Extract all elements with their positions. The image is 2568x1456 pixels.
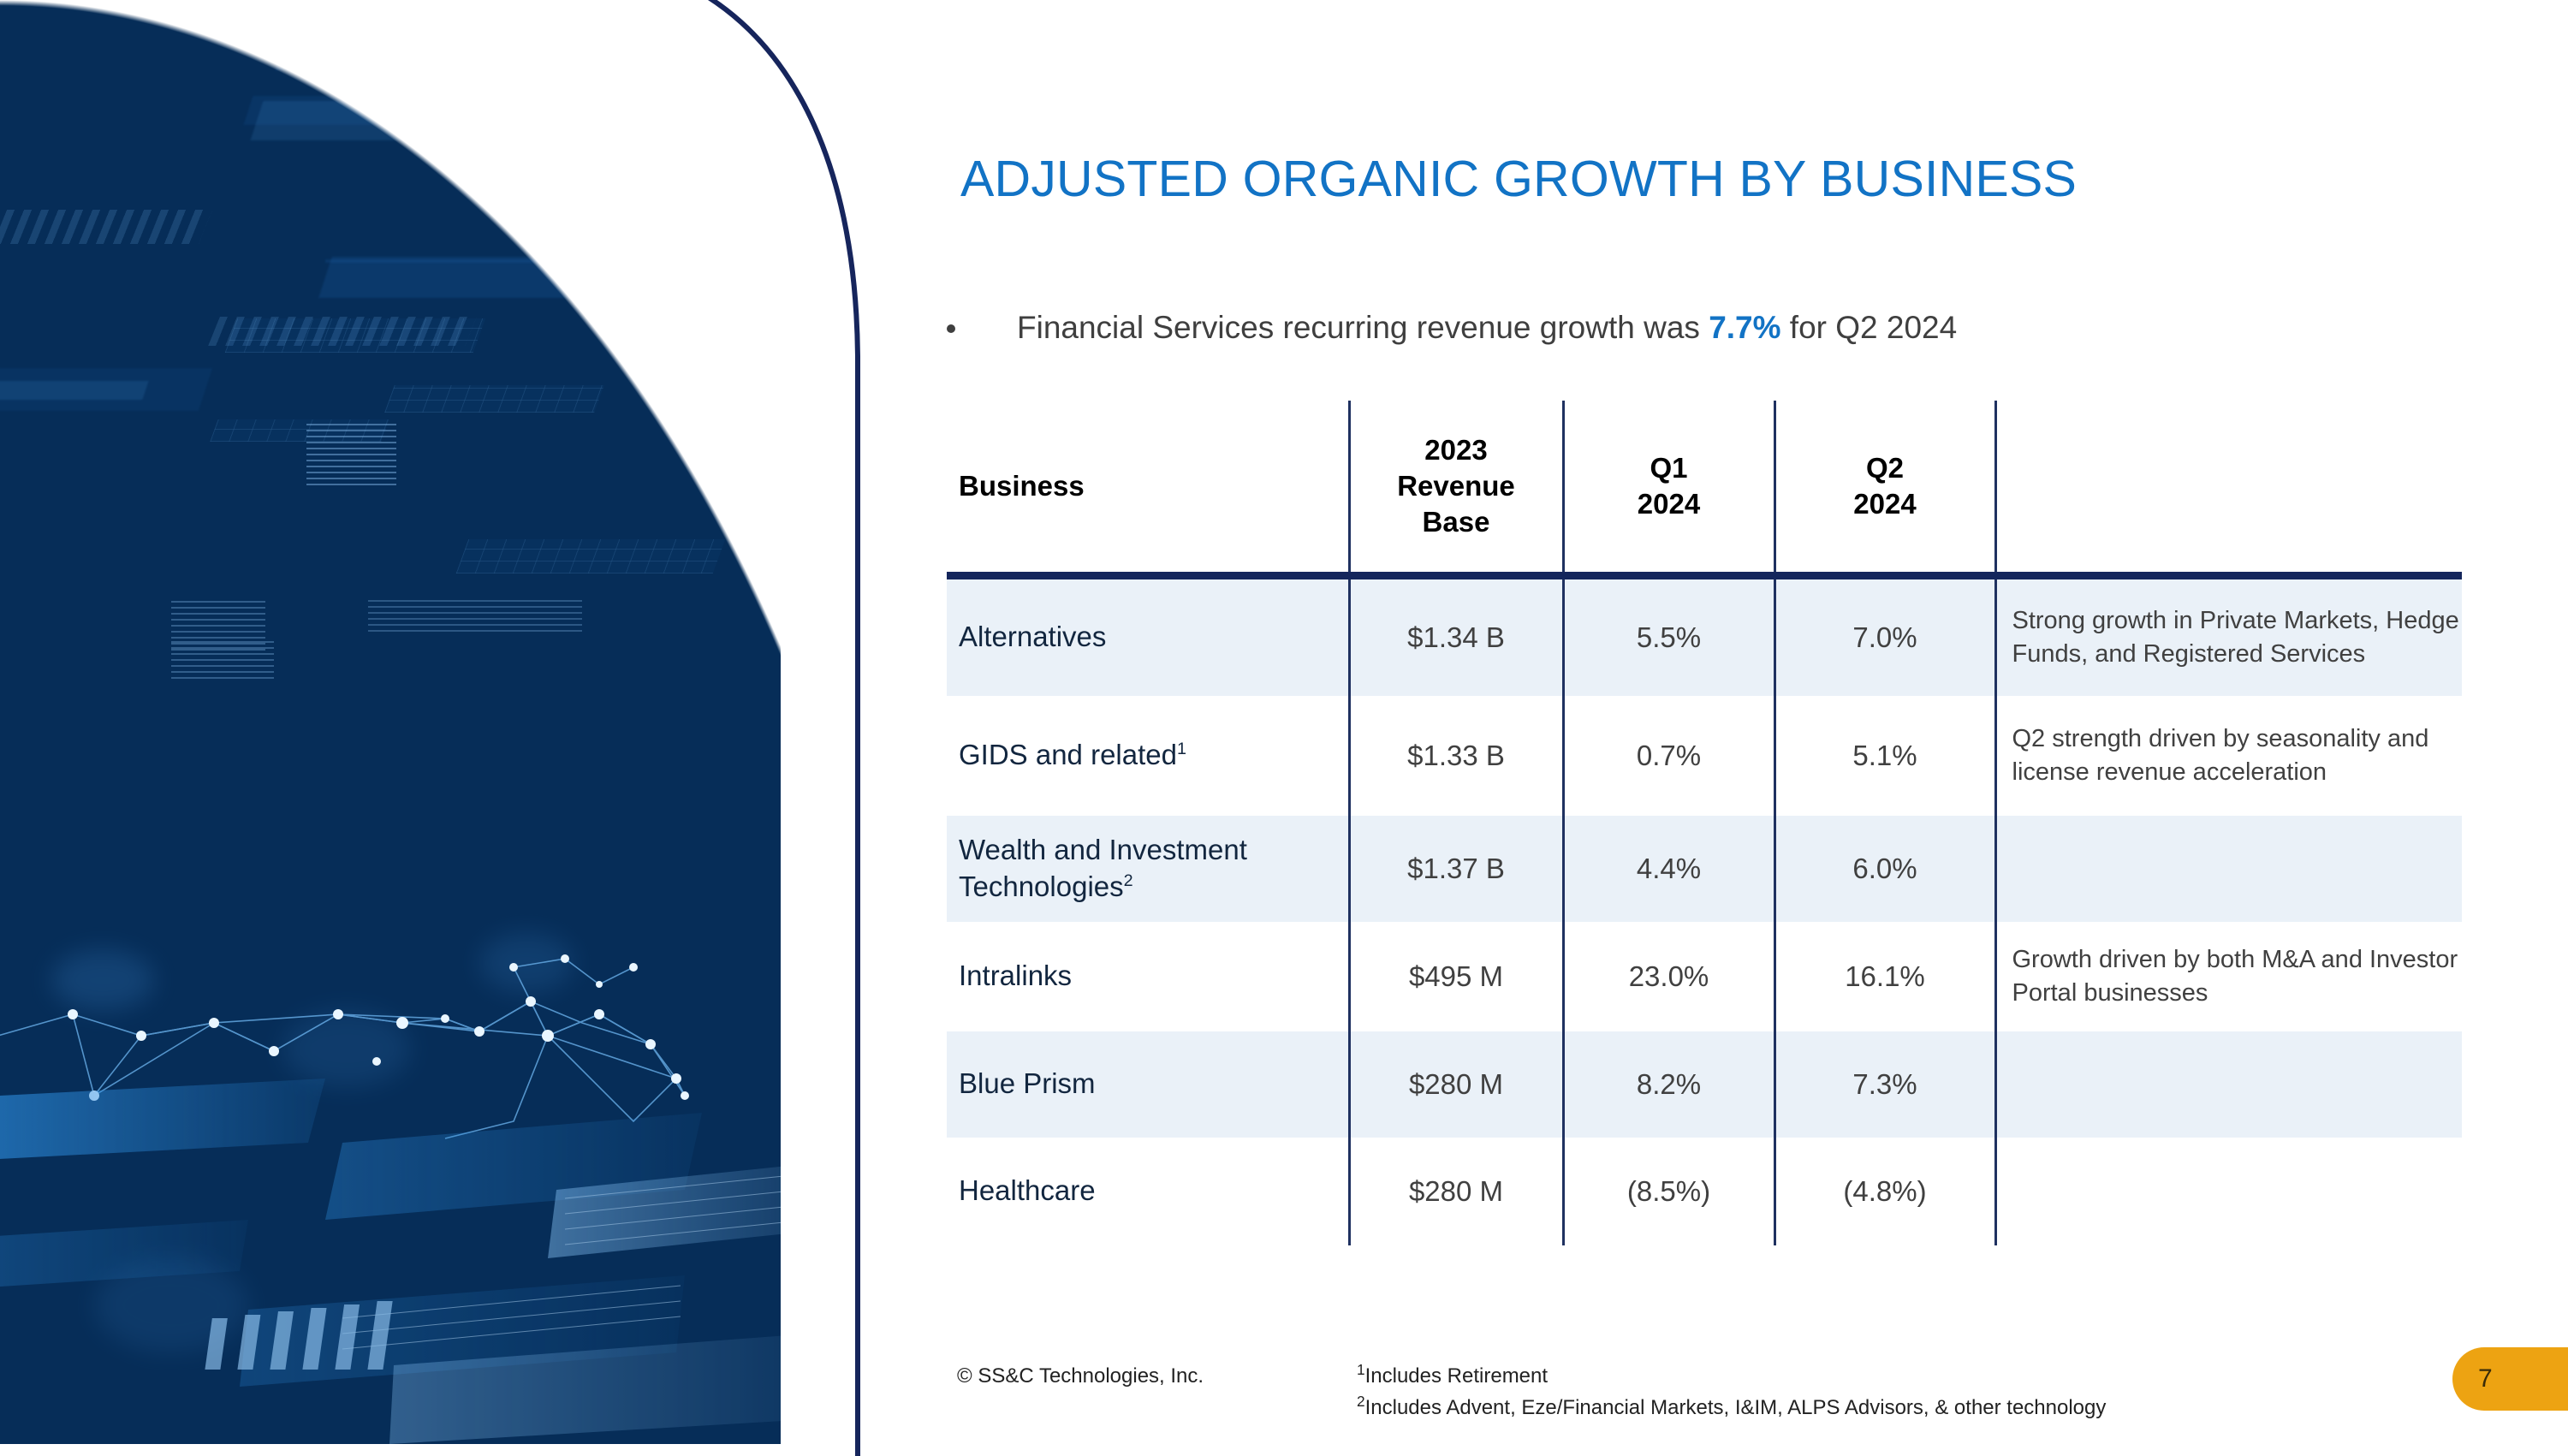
growth-table: Business 2023 Revenue Base Q1 2024 Q2 20…	[947, 401, 2462, 1245]
cell-note	[1995, 816, 2462, 922]
deco-band	[0, 381, 149, 400]
deco-dashboard-motif	[0, 1061, 781, 1444]
cell-business: Alternatives	[947, 576, 1349, 696]
col-header-revenue-base: 2023 Revenue Base	[1349, 401, 1563, 576]
cell-revenue-base: $495 M	[1349, 922, 1563, 1031]
table-row: Wealth and Investment Technologies2$1.37…	[947, 816, 2462, 922]
cell-q1-2024: 5.5%	[1563, 576, 1774, 696]
table-row: Healthcare$280 M(8.5%)(4.8%)	[947, 1138, 2462, 1245]
page-number: 7	[2478, 1364, 2493, 1394]
cell-q1-2024: 23.0%	[1563, 922, 1774, 1031]
bullet-highlight-value: 7.7%	[1709, 310, 1780, 345]
cell-business: Blue Prism	[947, 1031, 1349, 1138]
col-header-notes	[1995, 401, 2462, 576]
cell-q2-2024: (4.8%)	[1774, 1138, 1995, 1245]
copyright-text: © SS&C Technologies, Inc.	[957, 1364, 1204, 1388]
deco-microtext	[171, 638, 274, 679]
footnote-2-marker: 2	[1357, 1393, 1365, 1410]
deco-grid-panel	[225, 318, 486, 353]
deco-band	[276, 26, 650, 70]
cell-revenue-base: $280 M	[1349, 1031, 1563, 1138]
bullet-text: Financial Services recurring revenue gro…	[1017, 308, 1957, 348]
cell-business: GIDS and related1	[947, 696, 1349, 816]
cell-revenue-base: $280 M	[1349, 1138, 1563, 1245]
decorative-image-panel	[0, 0, 781, 1444]
table-row: Intralinks$495 M23.0%16.1%Growth driven …	[947, 922, 2462, 1031]
bullet-row: Financial Services recurring revenue gro…	[947, 308, 2453, 348]
bullet-text-prefix: Financial Services recurring revenue gro…	[1017, 310, 1709, 345]
table-row: Alternatives$1.34 B5.5%7.0%Strong growth…	[947, 576, 2462, 696]
footnote-1-text: Includes Retirement	[1365, 1364, 1548, 1388]
table-row: GIDS and related1$1.33 B0.7%5.1%Q2 stren…	[947, 696, 2462, 816]
bullet-text-suffix: for Q2 2024	[1781, 310, 1958, 345]
cell-revenue-base: $1.34 B	[1349, 576, 1563, 696]
cell-revenue-base: $1.37 B	[1349, 816, 1563, 922]
cell-q2-2024: 7.3%	[1774, 1031, 1995, 1138]
table-body: Alternatives$1.34 B5.5%7.0%Strong growth…	[947, 576, 2462, 1245]
footnote-1: 1Includes Retirement	[1357, 1359, 2106, 1391]
cell-q1-2024: 4.4%	[1563, 816, 1774, 922]
cell-note: Q2 strength driven by seasonality and li…	[1995, 696, 2462, 816]
footnote-2: 2Includes Advent, Eze/Financial Markets,…	[1357, 1391, 2106, 1423]
footnote-2-text: Includes Advent, Eze/Financial Markets, …	[1365, 1396, 2107, 1419]
cell-q2-2024: 7.0%	[1774, 576, 1995, 696]
table-header: Business 2023 Revenue Base Q1 2024 Q2 20…	[947, 401, 2462, 576]
cell-business: Wealth and Investment Technologies2	[947, 816, 1349, 922]
cell-q1-2024: (8.5%)	[1563, 1138, 1774, 1245]
deco-microtext	[368, 599, 582, 632]
page-title: ADJUSTED ORGANIC GROWTH BY BUSINESS	[960, 150, 2450, 208]
cell-note	[1995, 1031, 2462, 1138]
cell-q1-2024: 0.7%	[1563, 696, 1774, 816]
col-header-q1-2024: Q1 2024	[1563, 401, 1774, 576]
table-row: Blue Prism$280 M8.2%7.3%	[947, 1031, 2462, 1138]
bullet-dot-icon	[947, 324, 955, 333]
cell-business: Healthcare	[947, 1138, 1349, 1245]
growth-table-wrapper: Business 2023 Revenue Base Q1 2024 Q2 20…	[947, 401, 2462, 1245]
deco-grid-panel	[456, 539, 726, 573]
footnotes: 1Includes Retirement 2Includes Advent, E…	[1357, 1359, 2106, 1423]
deco-band	[594, 175, 716, 206]
table-header-row: Business 2023 Revenue Base Q1 2024 Q2 20…	[947, 401, 2462, 576]
page-number-badge: 7	[2452, 1347, 2568, 1411]
deco-stripes	[0, 210, 212, 244]
cell-business: Intralinks	[947, 922, 1349, 1031]
deco-grid-panel	[384, 385, 604, 413]
deco-band	[325, 259, 651, 263]
col-header-q2-2024: Q2 2024	[1774, 401, 1995, 576]
cell-q1-2024: 8.2%	[1563, 1031, 1774, 1138]
cell-revenue-base: $1.33 B	[1349, 696, 1563, 816]
cell-q2-2024: 16.1%	[1774, 922, 1995, 1031]
footnote-1-marker: 1	[1357, 1361, 1365, 1378]
deco-band	[318, 257, 657, 298]
cell-q2-2024: 5.1%	[1774, 696, 1995, 816]
cell-note: Growth driven by both M&A and Investor P…	[1995, 922, 2462, 1031]
cell-note	[1995, 1138, 2462, 1245]
deco-microtext	[306, 424, 396, 485]
cell-q2-2024: 6.0%	[1774, 816, 1995, 922]
col-header-business: Business	[947, 401, 1349, 576]
deco-band	[251, 101, 503, 140]
cell-business-superscript: 1	[1177, 740, 1186, 758]
cell-note: Strong growth in Private Markets, Hedge …	[1995, 576, 2462, 696]
cell-business-superscript: 2	[1124, 871, 1133, 890]
